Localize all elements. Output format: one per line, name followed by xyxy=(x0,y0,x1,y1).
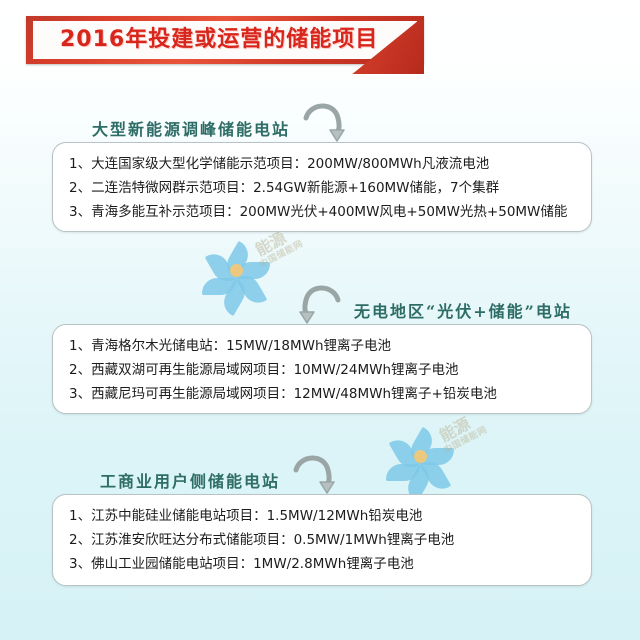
watermark-text-secondary: 中国储能网 xyxy=(257,236,305,270)
curved-arrow-right-down-icon xyxy=(292,452,338,496)
section-heading-1: 大型新能源调峰储能电站 xyxy=(84,100,348,144)
curved-arrow-right-down-icon xyxy=(302,100,348,144)
watermark-text-secondary: 中国储能网 xyxy=(441,422,489,456)
list-item: 3、青海多能互补示范项目：200MW光伏+400MW风电+50MW光热+50MW… xyxy=(69,200,577,224)
section-heading-1-label: 大型新能源调峰储能电站 xyxy=(84,116,298,144)
section-3-card: 1、江苏中能硅业储能电站项目：1.5MW/12MWh铅炭电池 2、江苏淮安欣旺达… xyxy=(52,494,592,586)
list-item: 3、佛山工业园储能电站项目：1MW/2.8MWh锂离子电池 xyxy=(69,552,577,576)
section-heading-3: 工商业用户侧储能电站 xyxy=(92,452,338,496)
list-item: 1、江苏中能硅业储能电站项目：1.5MW/12MWh铅炭电池 xyxy=(69,504,577,528)
pinwheel-logo-icon xyxy=(198,232,274,308)
list-item: 2、江苏淮安欣旺达分布式储能项目：0.5MW/1MWh锂离子电池 xyxy=(69,528,577,552)
section-heading-2: 无电地区“光伏+储能”电站 xyxy=(296,282,580,326)
section-heading-3-label: 工商业用户侧储能电站 xyxy=(92,468,288,496)
watermark-text-primary: 能源 xyxy=(434,410,474,446)
title-banner: 2016年投建或运营的储能项目 xyxy=(26,16,424,64)
list-item: 2、西藏双湖可再生能源局域网项目：10MW/24MWh锂离子电池 xyxy=(69,358,577,382)
section-2-card: 1、青海格尔木光储电站：15MW/18MWh锂离子电池 2、西藏双湖可再生能源局… xyxy=(52,324,592,414)
poster-canvas: 2016年投建或运营的储能项目 能源 中国储能网 能源 中国储能网 大型新能源调… xyxy=(0,0,640,640)
list-item: 1、青海格尔木光储电站：15MW/18MWh锂离子电池 xyxy=(69,334,577,358)
section-1-card: 1、大连国家级大型化学储能示范项目：200MW/800MWh凡液流电池 2、二连… xyxy=(52,142,592,232)
curved-arrow-left-down-icon xyxy=(296,282,342,326)
pinwheel-logo-icon xyxy=(382,418,458,494)
page-title: 2016年投建或运营的储能项目 xyxy=(60,23,378,57)
list-item: 1、大连国家级大型化学储能示范项目：200MW/800MWh凡液流电池 xyxy=(69,152,577,176)
watermark-lower: 能源 中国储能网 xyxy=(382,418,458,494)
list-item: 3、西藏尼玛可再生能源局域网项目：12MW/48MWh锂离子+铅炭电池 xyxy=(69,382,577,406)
watermark-upper: 能源 中国储能网 xyxy=(198,232,274,308)
section-heading-2-label: 无电地区“光伏+储能”电站 xyxy=(346,298,580,326)
list-item: 2、二连浩特微网群示范项目：2.54GW新能源+160MW储能，7个集群 xyxy=(69,176,577,200)
